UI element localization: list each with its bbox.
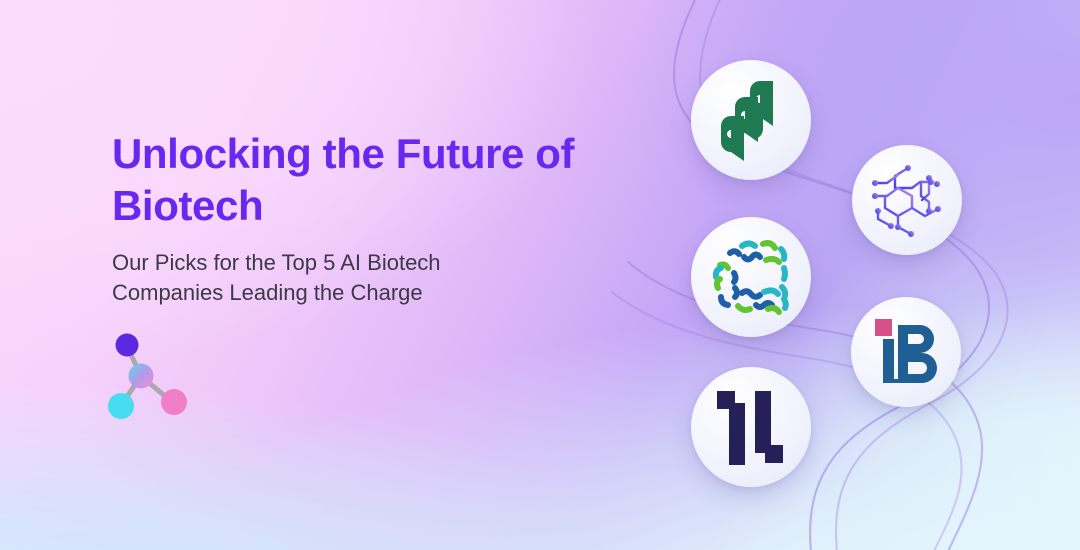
molecule-node-left [108, 393, 134, 419]
benevolent-pink-square [875, 319, 892, 336]
molecule-node-top [116, 334, 139, 357]
molecule-node-center [129, 364, 154, 389]
logo-badge-cellarity[interactable] [691, 217, 811, 337]
logo-badge-nuritas[interactable] [691, 367, 811, 487]
logo-badge-circuit-network[interactable] [852, 145, 962, 255]
logo-badge-benevolent-b[interactable] [851, 297, 961, 407]
benevolent-b-logo-icon [869, 317, 943, 387]
insilico-medicine-logo-icon [713, 79, 789, 161]
logo-badge-insilico-medicine[interactable] [691, 60, 811, 180]
circuit-network-logo-icon [867, 161, 947, 239]
cellarity-logo-icon [708, 235, 794, 319]
page-title: Unlocking the Future of Biotech [112, 128, 652, 232]
molecule-icon [100, 330, 200, 425]
page-subtitle: Our Picks for the Top 5 AI Biotech Compa… [112, 248, 652, 308]
headline-block: Unlocking the Future of Biotech Our Pick… [112, 128, 652, 308]
biotech-promo-banner: Unlocking the Future of Biotech Our Pick… [0, 0, 1080, 550]
nuritas-logo-icon [715, 389, 787, 465]
molecule-node-right [161, 389, 187, 415]
